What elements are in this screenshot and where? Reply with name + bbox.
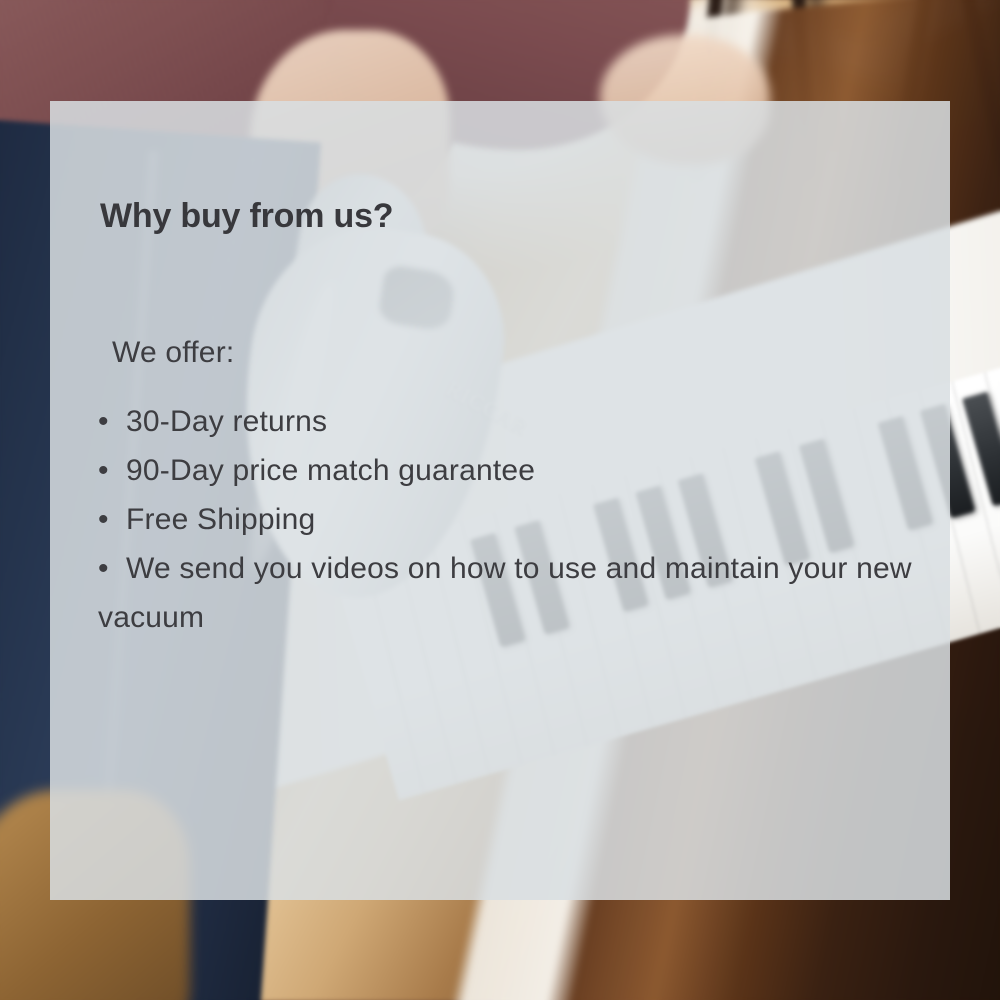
text-overlay-panel: Why buy from us? We offer: •30-Day retur…	[50, 101, 950, 900]
list-item-label: Free Shipping	[126, 503, 315, 536]
bullet-icon: •	[98, 397, 126, 446]
list-item: •90-Day price match guarantee	[98, 446, 918, 495]
bullet-icon: •	[98, 446, 126, 495]
list-item-label: We send you videos on how to use and mai…	[98, 552, 912, 634]
overlay-content: Why buy from us? We offer: •30-Day retur…	[50, 101, 950, 900]
list-item: •We send you videos on how to use and ma…	[98, 544, 918, 642]
bullet-icon: •	[98, 495, 126, 544]
list-item-label: 90-Day price match guarantee	[126, 454, 535, 487]
list-item: •Free Shipping	[98, 495, 918, 544]
page-title: Why buy from us?	[100, 197, 393, 236]
bullet-icon: •	[98, 544, 126, 593]
promo-graphic: RICCAR Why buy from us? We offer: •30-Da…	[0, 0, 1000, 1000]
list-item-label: 30-Day returns	[126, 405, 327, 438]
offer-intro-label: We offer:	[112, 336, 234, 370]
list-item: •30-Day returns	[98, 397, 918, 446]
benefits-list: •30-Day returns •90-Day price match guar…	[98, 397, 918, 642]
